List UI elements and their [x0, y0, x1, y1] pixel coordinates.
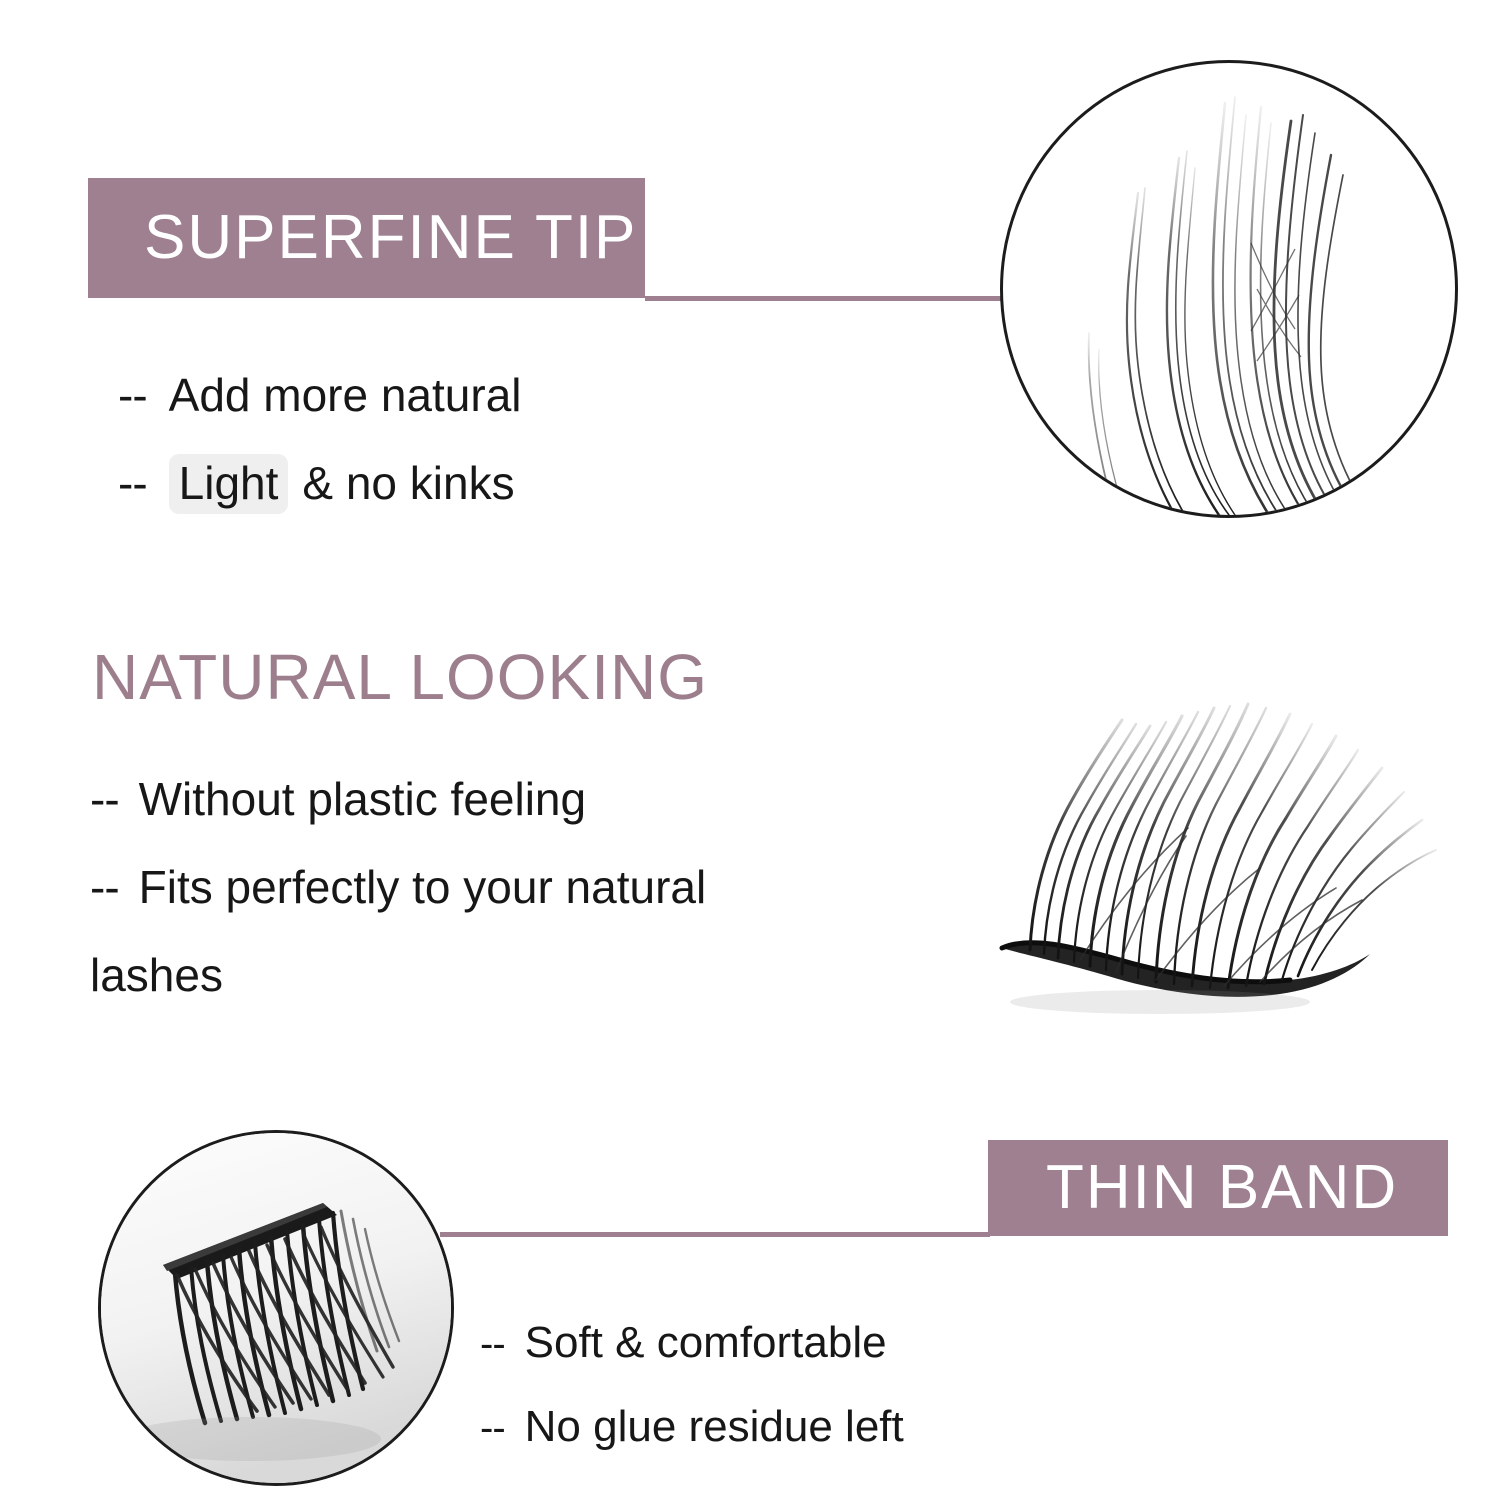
bullet-dash-icon: -- [480, 1406, 505, 1451]
banner-thin-band-label: THIN BAND [1046, 1157, 1398, 1219]
bullet-item: -- Light & no kinks [118, 454, 522, 514]
bullet-text-continuation: lashes [90, 948, 223, 1002]
heading-natural-looking: NATURAL LOOKING [92, 645, 708, 709]
superfine-tip-closeup-photo [1000, 60, 1458, 518]
bullet-item: -- Without plastic feeling [90, 772, 706, 826]
thin-band-closeup-photo [98, 1130, 454, 1486]
bullet-text: Soft & comfortable [525, 1318, 887, 1368]
bullet-wrap-line: lashes [90, 948, 706, 1002]
connector-line-thin-band [440, 1232, 990, 1237]
lash-strip-side-view-photo [960, 650, 1460, 1040]
connector-line-superfine-tip [645, 296, 1005, 301]
bullet-list-superfine-tip: -- Add more natural -- Light & no kinks [118, 368, 522, 546]
superfine-tip-fibers-illustration [1003, 63, 1455, 515]
bullet-dash-icon: -- [90, 860, 119, 914]
banner-thin-band: THIN BAND [988, 1140, 1448, 1236]
lash-strip-illustration [960, 650, 1460, 1040]
bullet-list-natural-looking: -- Without plastic feeling -- Fits perfe… [90, 772, 706, 1002]
banner-superfine-tip-label: SUPERFINE TIP [144, 207, 637, 269]
bullet-item: -- Soft & comfortable [480, 1318, 904, 1368]
product-feature-infographic: SUPERFINE TIP -- Add more natural -- Lig… [0, 0, 1500, 1500]
bullet-item: -- Add more natural [118, 368, 522, 422]
bullet-text: Fits perfectly to your natural [139, 860, 707, 914]
bullet-item: -- Fits perfectly to your natural [90, 860, 706, 914]
bullet-dash-icon: -- [118, 368, 147, 422]
thin-band-fibers-illustration [101, 1133, 451, 1483]
bullet-dash-icon: -- [90, 772, 119, 826]
bullet-list-thin-band: -- Soft & comfortable -- No glue residue… [480, 1318, 904, 1486]
banner-superfine-tip: SUPERFINE TIP [88, 178, 645, 298]
bullet-text: No glue residue left [525, 1402, 904, 1452]
bullet-highlighted-word: Light [169, 454, 289, 514]
bullet-dash-icon: -- [480, 1322, 505, 1367]
bullet-dash-icon: -- [118, 456, 147, 510]
bullet-text: Without plastic feeling [139, 772, 586, 826]
bullet-item: -- No glue residue left [480, 1402, 904, 1452]
bullet-text: & no kinks [302, 456, 514, 510]
bullet-text: Add more natural [169, 368, 522, 422]
